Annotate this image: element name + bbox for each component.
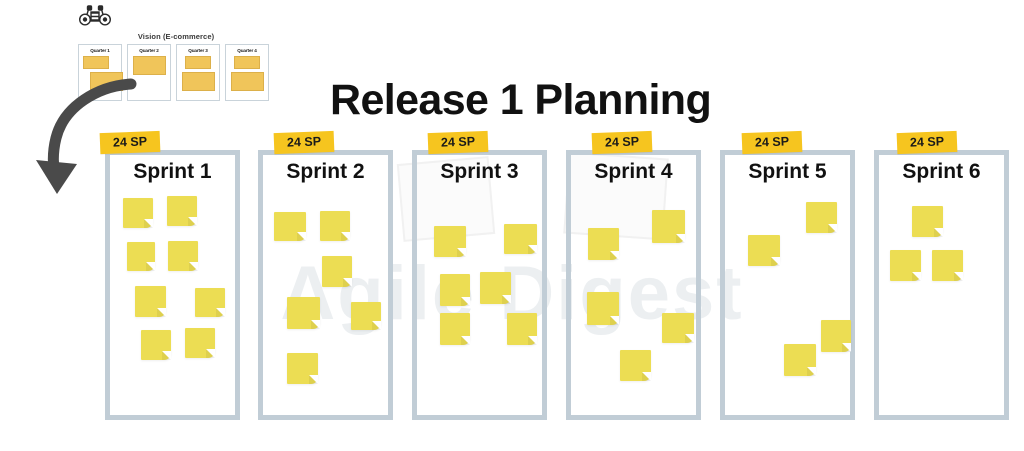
quarter-card[interactable]: Quarter 4 — [225, 44, 269, 101]
sprint-title: Sprint 4 — [566, 160, 701, 184]
vision-label: Vision (E-commerce) — [78, 32, 274, 41]
story-points-badge[interactable]: 24 SP — [742, 131, 803, 154]
sticky-note[interactable] — [123, 198, 153, 228]
quarter-note[interactable] — [231, 72, 264, 91]
sprint-title: Sprint 6 — [874, 160, 1009, 184]
sticky-note[interactable] — [480, 272, 511, 304]
quarter-note[interactable] — [234, 56, 260, 69]
release-planning-canvas: Agile Digest Vision (E-commerce) — [0, 0, 1024, 451]
sticky-note[interactable] — [287, 297, 320, 329]
sprint-column[interactable]: 24 SPSprint 6 — [874, 150, 1009, 420]
sticky-note[interactable] — [588, 228, 619, 260]
sticky-note[interactable] — [620, 350, 651, 381]
sticky-note[interactable] — [890, 250, 921, 281]
sticky-note[interactable] — [351, 302, 381, 330]
sprint-frame — [720, 150, 855, 420]
sticky-note[interactable] — [806, 202, 837, 233]
sticky-note[interactable] — [127, 242, 155, 271]
sticky-note[interactable] — [141, 330, 171, 360]
sprint-title: Sprint 5 — [720, 160, 855, 184]
sticky-note[interactable] — [195, 288, 225, 317]
quarter-card[interactable]: Quarter 3 — [176, 44, 220, 101]
sprint-frame — [874, 150, 1009, 420]
binoculars-icon — [78, 4, 274, 31]
sticky-note[interactable] — [440, 274, 470, 306]
flow-arrow-icon — [28, 72, 138, 202]
sprint-column[interactable]: 24 SPSprint 4 — [566, 150, 701, 420]
story-points-badge[interactable]: 24 SP — [274, 131, 335, 154]
sticky-note[interactable] — [274, 212, 306, 241]
sticky-note[interactable] — [912, 206, 943, 237]
sticky-note[interactable] — [434, 226, 466, 257]
sticky-note[interactable] — [322, 256, 352, 287]
quarter-note[interactable] — [185, 56, 211, 69]
sticky-note[interactable] — [652, 210, 685, 243]
quarter-title: Quarter 1 — [82, 48, 118, 53]
sticky-note[interactable] — [287, 353, 318, 384]
quarter-title: Quarter 4 — [229, 48, 265, 53]
sticky-note[interactable] — [135, 286, 166, 317]
quarter-title: Quarter 2 — [131, 48, 167, 53]
quarter-note[interactable] — [182, 72, 215, 91]
sticky-note[interactable] — [662, 313, 694, 343]
story-points-badge[interactable]: 24 SP — [428, 131, 489, 154]
sprint-column[interactable]: 24 SPSprint 5 — [720, 150, 855, 420]
sticky-note[interactable] — [821, 320, 851, 352]
sticky-note[interactable] — [167, 196, 197, 226]
sticky-note[interactable] — [185, 328, 215, 358]
quarter-note[interactable] — [83, 56, 109, 69]
story-points-badge[interactable]: 24 SP — [897, 131, 958, 154]
sprint-column[interactable]: 24 SPSprint 2 — [258, 150, 393, 420]
story-points-badge[interactable]: 24 SP — [592, 131, 653, 154]
sticky-note[interactable] — [587, 292, 619, 325]
quarter-title: Quarter 3 — [180, 48, 216, 53]
sprint-title: Sprint 3 — [412, 160, 547, 184]
page-title: Release 1 Planning — [330, 76, 711, 125]
sticky-note[interactable] — [504, 224, 537, 254]
sprint-column[interactable]: 24 SPSprint 3 — [412, 150, 547, 420]
sprint-title: Sprint 2 — [258, 160, 393, 184]
sticky-note[interactable] — [440, 313, 470, 345]
sticky-note[interactable] — [784, 344, 816, 376]
sticky-note[interactable] — [932, 250, 963, 281]
sticky-note[interactable] — [507, 313, 537, 345]
sticky-note[interactable] — [168, 241, 198, 271]
sticky-note[interactable] — [320, 211, 350, 241]
sticky-note[interactable] — [748, 235, 780, 266]
